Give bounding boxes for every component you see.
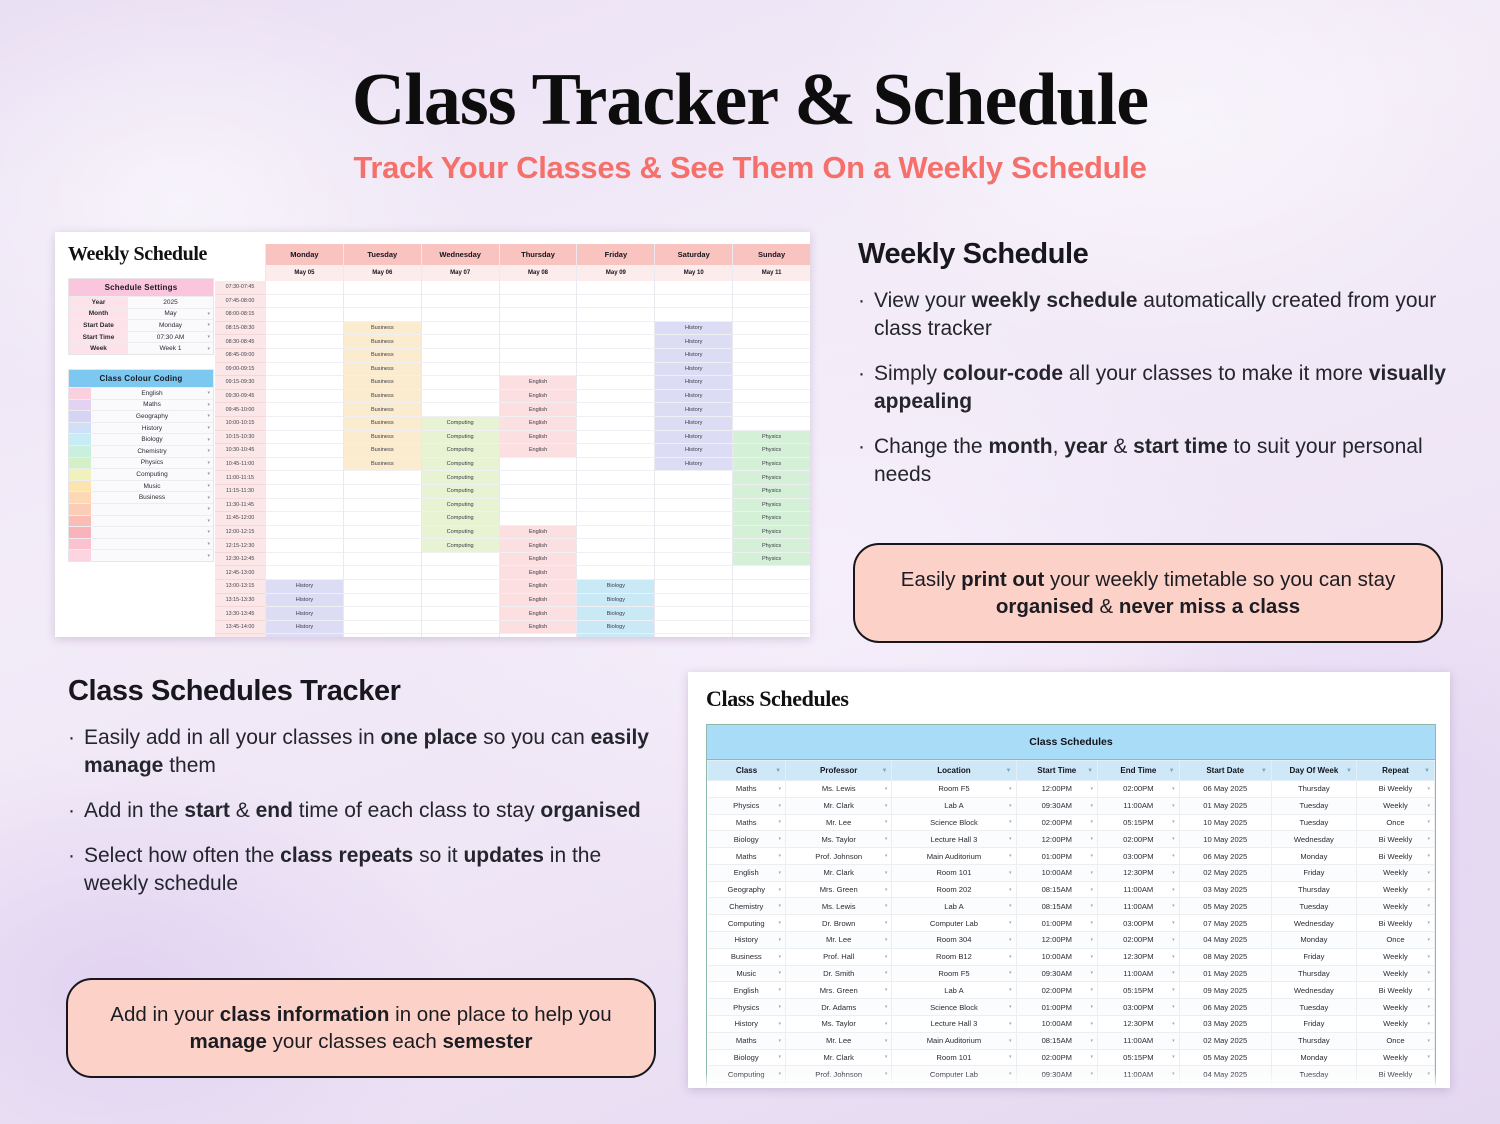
colour-coding-row[interactable]: English▾ [69, 387, 213, 399]
colour-coding-row[interactable]: ▾ [69, 549, 213, 561]
settings-row-value[interactable]: 2025 [128, 297, 213, 308]
chevron-down-icon[interactable]: ▾ [1172, 1038, 1175, 1044]
schedule-cell[interactable]: Business [344, 458, 421, 472]
chevron-down-icon[interactable]: ▾ [1009, 903, 1012, 909]
chevron-down-icon[interactable]: ▾ [1427, 836, 1430, 842]
chevron-down-icon[interactable]: ▾ [1091, 937, 1094, 943]
table-cell[interactable]: 11:00AM▾ [1098, 881, 1180, 898]
chevron-down-icon[interactable]: ▾ [1172, 954, 1175, 960]
chevron-down-icon[interactable]: ▾ [779, 786, 782, 792]
schedule-cell[interactable]: Computing [422, 444, 499, 458]
column-header-day-of-week[interactable]: Day Of Week▼ [1271, 761, 1356, 781]
table-cell[interactable]: Maths▾ [708, 781, 786, 798]
chevron-down-icon[interactable]: ▾ [1091, 887, 1094, 893]
schedule-cell[interactable] [266, 308, 343, 322]
schedule-cell[interactable]: Computing [422, 499, 499, 513]
chevron-down-icon[interactable]: ▾ [1427, 1004, 1430, 1010]
schedule-cell[interactable] [266, 281, 343, 295]
schedule-cell[interactable]: Physics [733, 512, 810, 526]
schedule-cell[interactable] [655, 539, 732, 553]
table-cell[interactable]: Room 101▾ [892, 864, 1016, 881]
chevron-down-icon[interactable]: ▾ [1427, 870, 1430, 876]
schedule-cell[interactable] [577, 444, 654, 458]
chevron-down-icon[interactable]: ▾ [1172, 887, 1175, 893]
chevron-down-icon[interactable]: ▾ [1427, 786, 1430, 792]
chevron-down-icon[interactable]: ▾ [1091, 803, 1094, 809]
table-cell[interactable]: Thursday [1271, 881, 1356, 898]
schedule-cell[interactable]: Physics [733, 526, 810, 540]
table-cell[interactable]: 02 May 2025 [1179, 1032, 1271, 1049]
table-cell[interactable]: 05 May 2025 [1179, 1049, 1271, 1066]
schedule-cell[interactable]: History [266, 580, 343, 594]
chevron-down-icon[interactable]: ▾ [1091, 836, 1094, 842]
table-row[interactable]: Chemistry▾Ms. Lewis▾Lab A▾08:15AM▾11:00A… [708, 898, 1435, 915]
schedule-cell[interactable] [422, 308, 499, 322]
schedule-cell[interactable]: Physics [733, 471, 810, 485]
table-cell[interactable]: Once▾ [1356, 932, 1434, 949]
filter-icon[interactable]: ▼ [1006, 768, 1012, 774]
schedule-cell[interactable] [500, 634, 577, 637]
schedule-cell[interactable]: English [500, 403, 577, 417]
chevron-down-icon[interactable]: ▾ [1427, 819, 1430, 825]
chevron-down-icon[interactable]: ▾ [207, 346, 210, 352]
chevron-down-icon[interactable]: ▾ [779, 903, 782, 909]
schedule-cell[interactable]: English [500, 390, 577, 404]
table-cell[interactable]: Wednesday [1271, 915, 1356, 932]
chevron-down-icon[interactable]: ▾ [1427, 954, 1430, 960]
chevron-down-icon[interactable]: ▾ [1172, 1004, 1175, 1010]
schedule-cell[interactable] [655, 621, 732, 635]
chevron-down-icon[interactable]: ▾ [1009, 920, 1012, 926]
column-header-start-time[interactable]: Start Time▼ [1016, 761, 1098, 781]
schedule-cell[interactable] [577, 566, 654, 580]
schedule-cell[interactable] [733, 281, 810, 295]
table-cell[interactable]: 03 May 2025 [1179, 881, 1271, 898]
schedule-cell[interactable]: Physics [733, 458, 810, 472]
schedule-cell[interactable]: Computing [422, 512, 499, 526]
chevron-down-icon[interactable]: ▾ [885, 1038, 888, 1044]
chevron-down-icon[interactable]: ▾ [1427, 1054, 1430, 1060]
table-cell[interactable]: Mr. Lee▾ [786, 1032, 892, 1049]
chevron-down-icon[interactable]: ▾ [207, 413, 210, 419]
chevron-down-icon[interactable]: ▾ [1172, 853, 1175, 859]
chevron-down-icon[interactable]: ▾ [1172, 970, 1175, 976]
schedule-cell[interactable]: English [500, 566, 577, 580]
schedule-cell[interactable]: English [500, 594, 577, 608]
chevron-down-icon[interactable]: ▾ [207, 553, 210, 559]
settings-row[interactable]: Year2025 [69, 296, 213, 308]
chevron-down-icon[interactable]: ▾ [1091, 1021, 1094, 1027]
table-cell[interactable]: Room 304▾ [892, 932, 1016, 949]
table-cell[interactable]: Lab A▾ [892, 797, 1016, 814]
schedule-cell[interactable] [500, 499, 577, 513]
schedule-cell[interactable] [655, 526, 732, 540]
chevron-down-icon[interactable]: ▾ [1091, 987, 1094, 993]
table-cell[interactable]: Mr. Clark▾ [786, 1049, 892, 1066]
filter-icon[interactable]: ▼ [1424, 768, 1430, 774]
table-cell[interactable]: Mr. Lee▾ [786, 814, 892, 831]
chevron-down-icon[interactable]: ▾ [885, 920, 888, 926]
schedule-cell[interactable] [577, 417, 654, 431]
chevron-down-icon[interactable]: ▾ [779, 1021, 782, 1027]
table-cell[interactable]: Mrs. Green▾ [786, 982, 892, 999]
table-cell[interactable]: 02 May 2025 [1179, 864, 1271, 881]
schedule-cell[interactable] [577, 431, 654, 445]
schedule-cell[interactable] [422, 295, 499, 309]
chevron-down-icon[interactable]: ▾ [1009, 853, 1012, 859]
schedule-cell[interactable] [577, 281, 654, 295]
table-cell[interactable]: Ms. Lewis▾ [786, 781, 892, 798]
table-cell[interactable]: Music▾ [708, 965, 786, 982]
table-cell[interactable]: 05:15PM▾ [1098, 1049, 1180, 1066]
chevron-down-icon[interactable]: ▾ [1172, 819, 1175, 825]
schedule-cell[interactable] [655, 580, 732, 594]
filter-icon[interactable]: ▼ [1261, 768, 1267, 774]
chevron-down-icon[interactable]: ▾ [885, 937, 888, 943]
schedule-cell[interactable] [266, 512, 343, 526]
settings-row-value[interactable]: May▾ [128, 309, 213, 320]
schedule-cell[interactable] [577, 499, 654, 513]
chevron-down-icon[interactable]: ▾ [779, 803, 782, 809]
schedule-cell[interactable] [577, 322, 654, 336]
schedule-cell[interactable]: Biology [577, 594, 654, 608]
chevron-down-icon[interactable]: ▾ [885, 954, 888, 960]
chevron-down-icon[interactable]: ▾ [779, 1038, 782, 1044]
colour-row-value[interactable]: Computing▾ [91, 469, 213, 480]
schedule-cell[interactable] [577, 403, 654, 417]
colour-coding-row[interactable]: Biology▾ [69, 433, 213, 445]
table-cell[interactable]: 10:00AM▾ [1016, 948, 1098, 965]
table-row[interactable]: Maths▾Ms. Lewis▾Room F5▾12:00PM▾02:00PM▾… [708, 781, 1435, 798]
schedule-cell[interactable] [500, 349, 577, 363]
table-cell[interactable]: 03 May 2025 [1179, 1015, 1271, 1032]
column-header-location[interactable]: Location▼ [892, 761, 1016, 781]
chevron-down-icon[interactable]: ▾ [1091, 920, 1094, 926]
schedule-cell[interactable] [344, 539, 421, 553]
table-cell[interactable]: 03:00PM▾ [1098, 848, 1180, 865]
table-cell[interactable]: 12:00PM▾ [1016, 781, 1098, 798]
colour-row-value[interactable]: ▾ [91, 539, 213, 550]
table-row[interactable]: History▾Mr. Lee▾Room 304▾12:00PM▾02:00PM… [708, 932, 1435, 949]
table-cell[interactable]: Bi Weekly▾ [1356, 848, 1434, 865]
chevron-down-icon[interactable]: ▾ [779, 819, 782, 825]
table-cell[interactable]: 01:00PM▾ [1016, 915, 1098, 932]
table-cell[interactable]: 12:30PM▾ [1098, 948, 1180, 965]
table-cell[interactable]: Physics▾ [708, 797, 786, 814]
colour-row-value[interactable]: History▾ [91, 423, 213, 434]
table-cell[interactable]: 02:00PM▾ [1098, 781, 1180, 798]
table-cell[interactable]: Monday [1271, 848, 1356, 865]
schedule-cell[interactable]: History [655, 417, 732, 431]
chevron-down-icon[interactable]: ▾ [207, 471, 210, 477]
schedule-cell[interactable]: Biology [577, 607, 654, 621]
table-row[interactable]: Physics▾Dr. Adams▾Science Block▾01:00PM▾… [708, 999, 1435, 1016]
schedule-cell[interactable] [577, 376, 654, 390]
colour-row-value[interactable]: Geography▾ [91, 411, 213, 422]
chevron-down-icon[interactable]: ▾ [207, 495, 210, 501]
schedule-cell[interactable] [577, 363, 654, 377]
chevron-down-icon[interactable]: ▾ [1091, 1054, 1094, 1060]
schedule-cell[interactable] [500, 281, 577, 295]
chevron-down-icon[interactable]: ▾ [1009, 937, 1012, 943]
table-cell[interactable]: Friday [1271, 864, 1356, 881]
table-cell[interactable]: Tuesday [1271, 898, 1356, 915]
table-cell[interactable]: Ms. Taylor▾ [786, 831, 892, 848]
schedule-cell[interactable]: Business [344, 335, 421, 349]
schedule-cell[interactable]: English [500, 431, 577, 445]
table-cell[interactable]: Main Auditorium▾ [892, 1032, 1016, 1049]
table-cell[interactable]: 10:00AM▾ [1016, 864, 1098, 881]
chevron-down-icon[interactable]: ▾ [1091, 1038, 1094, 1044]
chevron-down-icon[interactable]: ▾ [885, 1054, 888, 1060]
schedule-cell[interactable] [733, 363, 810, 377]
schedule-cell[interactable] [266, 376, 343, 390]
schedule-cell[interactable]: History [655, 431, 732, 445]
chevron-down-icon[interactable]: ▾ [779, 836, 782, 842]
colour-coding-row[interactable]: Computing▾ [69, 468, 213, 480]
table-cell[interactable]: 11:00AM▾ [1098, 797, 1180, 814]
table-row[interactable]: Maths▾Mr. Lee▾Science Block▾02:00PM▾05:1… [708, 814, 1435, 831]
schedule-cell[interactable] [500, 308, 577, 322]
chevron-down-icon[interactable]: ▾ [779, 870, 782, 876]
schedule-cell[interactable] [344, 295, 421, 309]
table-cell[interactable]: Computing▾ [708, 915, 786, 932]
schedule-cell[interactable]: Computing [422, 485, 499, 499]
chevron-down-icon[interactable]: ▾ [207, 402, 210, 408]
schedule-cell[interactable] [577, 335, 654, 349]
table-cell[interactable]: Monday [1271, 932, 1356, 949]
table-row[interactable]: History▾Ms. Taylor▾Lecture Hall 3▾10:00A… [708, 1015, 1435, 1032]
schedule-cell[interactable] [422, 634, 499, 637]
table-cell[interactable]: 02:00PM▾ [1098, 932, 1180, 949]
table-cell[interactable]: 12:30PM▾ [1098, 1015, 1180, 1032]
table-cell[interactable]: 06 May 2025 [1179, 781, 1271, 798]
schedule-cell[interactable] [655, 471, 732, 485]
schedule-cell[interactable] [733, 607, 810, 621]
table-cell[interactable]: Prof. Johnson▾ [786, 848, 892, 865]
table-cell[interactable]: Lecture Hall 3▾ [892, 831, 1016, 848]
colour-row-value[interactable]: English▾ [91, 388, 213, 399]
chevron-down-icon[interactable]: ▾ [1427, 937, 1430, 943]
table-cell[interactable]: Lecture Hall 3▾ [892, 1015, 1016, 1032]
column-header-end-time[interactable]: End Time▼ [1098, 761, 1180, 781]
schedule-cell[interactable] [266, 349, 343, 363]
schedule-cell[interactable]: English [500, 607, 577, 621]
chevron-down-icon[interactable]: ▾ [779, 970, 782, 976]
schedule-cell[interactable] [422, 376, 499, 390]
schedule-cell[interactable] [655, 308, 732, 322]
chevron-down-icon[interactable]: ▾ [1172, 937, 1175, 943]
chevron-down-icon[interactable]: ▾ [1009, 1004, 1012, 1010]
schedule-cell[interactable] [344, 553, 421, 567]
chevron-down-icon[interactable]: ▾ [1009, 887, 1012, 893]
table-cell[interactable]: Wednesday [1271, 982, 1356, 999]
chevron-down-icon[interactable]: ▾ [1091, 1004, 1094, 1010]
chevron-down-icon[interactable]: ▾ [1427, 903, 1430, 909]
table-row[interactable]: Biology▾Mr. Clark▾Room 101▾02:00PM▾05:15… [708, 1049, 1435, 1066]
table-cell[interactable]: Room F5▾ [892, 965, 1016, 982]
table-cell[interactable]: Once▾ [1356, 1032, 1434, 1049]
schedule-cell[interactable] [266, 471, 343, 485]
schedule-cell[interactable]: Business [344, 417, 421, 431]
table-cell[interactable]: Tuesday [1271, 814, 1356, 831]
table-cell[interactable]: 02:00PM▾ [1016, 1049, 1098, 1066]
table-cell[interactable]: Weekly▾ [1356, 864, 1434, 881]
colour-coding-row[interactable]: Geography▾ [69, 410, 213, 422]
schedule-cell[interactable]: History [655, 349, 732, 363]
chevron-down-icon[interactable]: ▾ [1009, 954, 1012, 960]
colour-row-value[interactable]: Physics▾ [91, 458, 213, 469]
table-row[interactable]: Physics▾Mr. Clark▾Lab A▾09:30AM▾11:00AM▾… [708, 797, 1435, 814]
schedule-cell[interactable] [733, 295, 810, 309]
table-cell[interactable]: 06 May 2025 [1179, 999, 1271, 1016]
table-cell[interactable]: 03:00PM▾ [1098, 915, 1180, 932]
chevron-down-icon[interactable]: ▾ [1009, 803, 1012, 809]
table-cell[interactable]: 11:00AM▾ [1098, 965, 1180, 982]
schedule-cell[interactable] [422, 403, 499, 417]
colour-coding-row[interactable]: Maths▾ [69, 399, 213, 411]
table-cell[interactable]: Science Block▾ [892, 999, 1016, 1016]
table-cell[interactable]: 01:00PM▾ [1016, 999, 1098, 1016]
schedule-cell[interactable]: Computing [422, 458, 499, 472]
chevron-down-icon[interactable]: ▾ [885, 1004, 888, 1010]
chevron-down-icon[interactable]: ▾ [207, 311, 210, 317]
table-cell[interactable]: History▾ [708, 1015, 786, 1032]
schedule-cell[interactable]: Business [344, 431, 421, 445]
table-cell[interactable]: Room 101▾ [892, 1049, 1016, 1066]
schedule-cell[interactable]: English [500, 376, 577, 390]
schedule-cell[interactable] [733, 390, 810, 404]
schedule-cell[interactable] [344, 621, 421, 635]
table-cell[interactable]: History▾ [708, 932, 786, 949]
table-cell[interactable]: Room 202▾ [892, 881, 1016, 898]
table-cell[interactable]: Biology▾ [708, 831, 786, 848]
filter-icon[interactable]: ▼ [1087, 768, 1093, 774]
schedule-cell[interactable]: Physics [733, 553, 810, 567]
chevron-down-icon[interactable]: ▾ [1091, 903, 1094, 909]
schedule-cell[interactable]: Business [344, 403, 421, 417]
chevron-down-icon[interactable]: ▾ [207, 425, 210, 431]
schedule-cell[interactable] [500, 512, 577, 526]
schedule-cell[interactable]: Business [344, 376, 421, 390]
schedule-cell[interactable] [733, 376, 810, 390]
colour-row-value[interactable]: Music▾ [91, 481, 213, 492]
chevron-down-icon[interactable]: ▾ [885, 853, 888, 859]
schedule-cell[interactable]: Physics [733, 539, 810, 553]
chevron-down-icon[interactable]: ▾ [885, 786, 888, 792]
chevron-down-icon[interactable]: ▾ [885, 903, 888, 909]
colour-row-value[interactable]: Chemistry▾ [91, 446, 213, 457]
chevron-down-icon[interactable]: ▾ [1172, 987, 1175, 993]
table-cell[interactable]: Friday [1271, 1015, 1356, 1032]
colour-coding-row[interactable]: Business▾ [69, 491, 213, 503]
table-cell[interactable]: Chemistry▾ [708, 898, 786, 915]
table-cell[interactable]: Weekly▾ [1356, 948, 1434, 965]
schedule-cell[interactable] [577, 485, 654, 499]
schedule-cell[interactable] [655, 295, 732, 309]
schedule-cell[interactable]: History [266, 621, 343, 635]
table-cell[interactable]: 07 May 2025 [1179, 915, 1271, 932]
colour-coding-row[interactable]: ▾ [69, 503, 213, 515]
table-cell[interactable]: Bi Weekly▾ [1356, 915, 1434, 932]
chevron-down-icon[interactable]: ▾ [1427, 887, 1430, 893]
table-cell[interactable]: Thursday [1271, 1032, 1356, 1049]
table-cell[interactable]: 05 May 2025 [1179, 898, 1271, 915]
schedule-cell[interactable] [422, 322, 499, 336]
table-cell[interactable]: Wednesday [1271, 831, 1356, 848]
schedule-cell[interactable]: Computing [422, 431, 499, 445]
chevron-down-icon[interactable]: ▾ [207, 506, 210, 512]
chevron-down-icon[interactable]: ▾ [1172, 1021, 1175, 1027]
schedule-cell[interactable]: History [655, 390, 732, 404]
colour-row-value[interactable]: Biology▾ [91, 434, 213, 445]
schedule-cell[interactable] [266, 363, 343, 377]
chevron-down-icon[interactable]: ▾ [207, 322, 210, 328]
chevron-down-icon[interactable]: ▾ [1009, 870, 1012, 876]
schedule-cell[interactable] [500, 471, 577, 485]
schedule-cell[interactable] [577, 458, 654, 472]
chevron-down-icon[interactable]: ▾ [1427, 987, 1430, 993]
schedule-cell[interactable]: Physics [733, 431, 810, 445]
schedule-cell[interactable] [344, 499, 421, 513]
table-cell[interactable]: 12:30PM▾ [1098, 864, 1180, 881]
colour-coding-row[interactable]: Chemistry▾ [69, 445, 213, 457]
table-cell[interactable]: Thursday [1271, 781, 1356, 798]
table-cell[interactable]: Room F5▾ [892, 781, 1016, 798]
table-cell[interactable]: Monday [1271, 1049, 1356, 1066]
schedule-cell[interactable] [266, 444, 343, 458]
table-cell[interactable]: 08 May 2025 [1179, 948, 1271, 965]
table-cell[interactable]: Weekly▾ [1356, 999, 1434, 1016]
filter-icon[interactable]: ▼ [881, 768, 887, 774]
schedule-cell[interactable] [266, 485, 343, 499]
chevron-down-icon[interactable]: ▾ [1091, 819, 1094, 825]
table-row[interactable]: Computing▾Dr. Brown▾Computer Lab▾01:00PM… [708, 915, 1435, 932]
chevron-down-icon[interactable]: ▾ [1172, 836, 1175, 842]
schedule-cell[interactable] [422, 607, 499, 621]
schedule-cell[interactable]: History [655, 363, 732, 377]
chevron-down-icon[interactable]: ▾ [779, 937, 782, 943]
schedule-cell[interactable] [655, 553, 732, 567]
chevron-down-icon[interactable]: ▾ [1172, 786, 1175, 792]
table-cell[interactable]: Weekly▾ [1356, 965, 1434, 982]
chevron-down-icon[interactable]: ▾ [1091, 954, 1094, 960]
schedule-cell[interactable]: History [655, 376, 732, 390]
column-header-start-date[interactable]: Start Date▼ [1179, 761, 1271, 781]
schedule-cell[interactable] [733, 308, 810, 322]
table-cell[interactable]: Weekly▾ [1356, 1015, 1434, 1032]
table-cell[interactable]: Friday [1271, 948, 1356, 965]
chevron-down-icon[interactable]: ▾ [1427, 1038, 1430, 1044]
settings-row-value[interactable]: 07:30 AM▾ [128, 332, 213, 343]
schedule-cell[interactable] [344, 471, 421, 485]
table-cell[interactable]: Weekly▾ [1356, 898, 1434, 915]
schedule-cell[interactable] [266, 335, 343, 349]
schedule-cell[interactable] [344, 485, 421, 499]
chevron-down-icon[interactable]: ▾ [1427, 853, 1430, 859]
schedule-cell[interactable] [577, 553, 654, 567]
chevron-down-icon[interactable]: ▾ [207, 448, 210, 454]
schedule-cell[interactable] [577, 295, 654, 309]
schedule-cell[interactable] [266, 553, 343, 567]
chevron-down-icon[interactable]: ▾ [1172, 1054, 1175, 1060]
schedule-cell[interactable] [344, 308, 421, 322]
schedule-cell[interactable] [577, 539, 654, 553]
chevron-down-icon[interactable]: ▾ [885, 970, 888, 976]
schedule-cell[interactable] [422, 553, 499, 567]
chevron-down-icon[interactable]: ▾ [885, 887, 888, 893]
table-cell[interactable]: Mr. Lee▾ [786, 932, 892, 949]
